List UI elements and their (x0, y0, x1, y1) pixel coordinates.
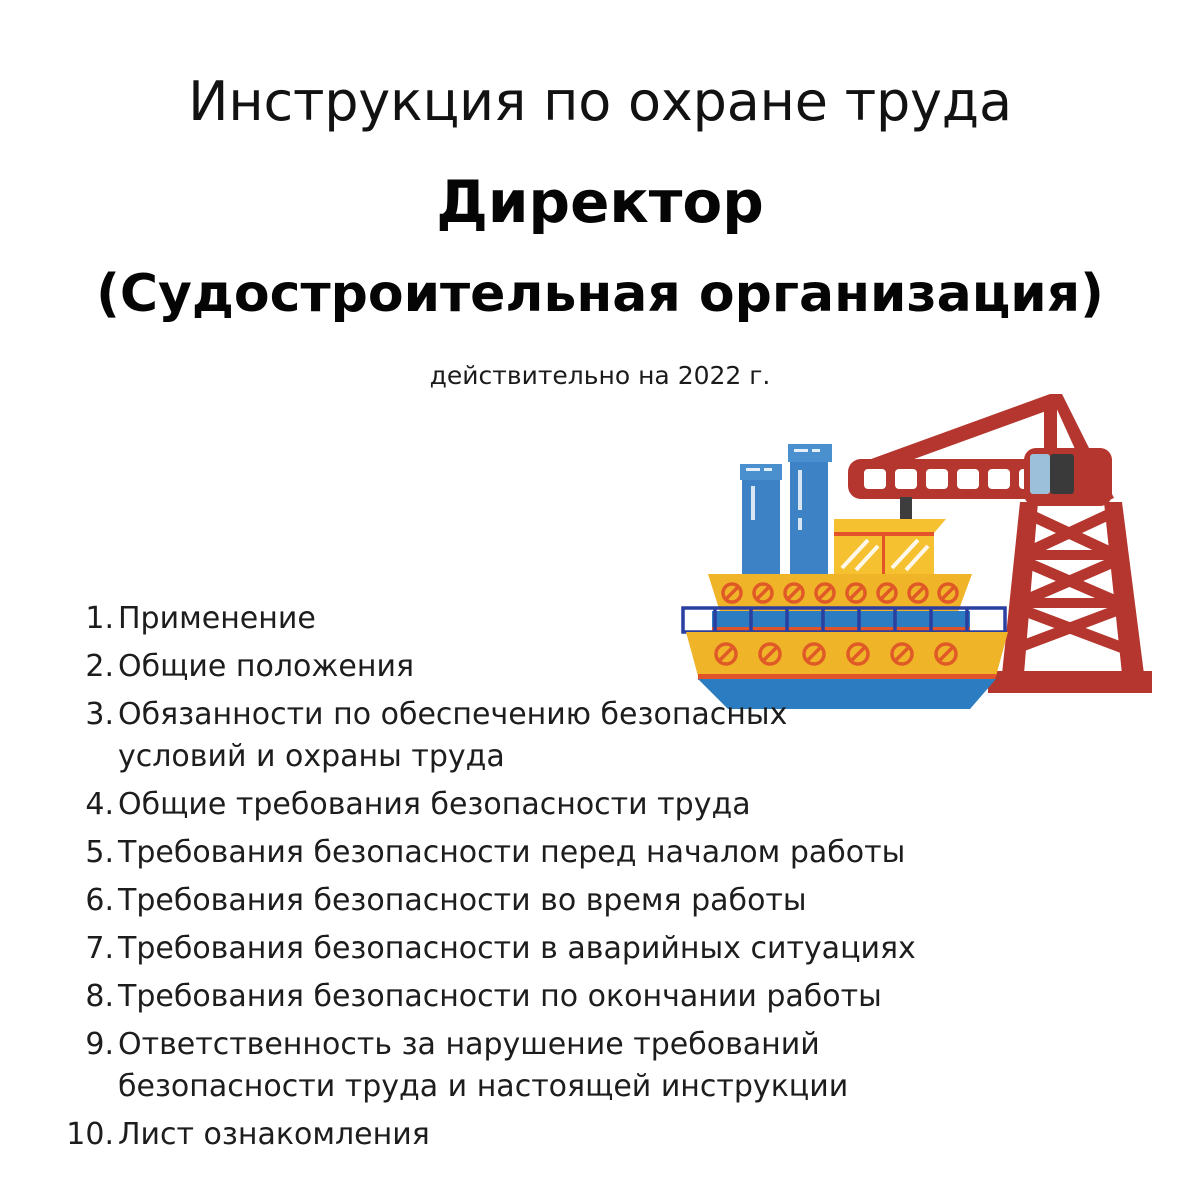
poster-page: Инструкция по охране труда Директор (Суд… (0, 0, 1200, 1200)
list-item-label: Общие положения (118, 646, 918, 688)
list-item[interactable]: 8. Требования безопасности по окончании … (62, 976, 962, 1018)
list-item[interactable]: 3. Обязанности по обеспечению безопасных… (62, 694, 962, 778)
list-item-number: 4. (62, 784, 118, 826)
list-item-label: Требования безопасности в аварийных ситу… (118, 928, 918, 970)
list-item[interactable]: 9. Ответственность за нарушение требован… (62, 1024, 962, 1108)
list-item[interactable]: 7. Требования безопасности в аварийных с… (62, 928, 962, 970)
list-item[interactable]: 4. Общие требования безопасности труда (62, 784, 962, 826)
list-item-label: Лист ознакомления (118, 1114, 918, 1156)
list-item-label: Обязанности по обеспечению безопасных ус… (118, 694, 918, 778)
page-title: Директор (0, 171, 1200, 234)
list-item[interactable]: 1. Применение (62, 598, 962, 640)
list-item[interactable]: 6. Требования безопасности во время рабо… (62, 880, 962, 922)
list-item[interactable]: 2. Общие положения (62, 646, 962, 688)
list-item-number: 7. (62, 928, 118, 970)
list-item-number: 6. (62, 880, 118, 922)
poster-header: Инструкция по охране труда Директор (Суд… (0, 0, 1200, 390)
list-item[interactable]: 10. Лист ознакомления (62, 1114, 962, 1156)
list-item-label: Требования безопасности по окончании раб… (118, 976, 918, 1018)
document-kicker: Инструкция по охране труда (0, 73, 1200, 130)
list-item-number: 1. (62, 598, 118, 640)
list-item-label: Ответственность за нарушение требований … (118, 1024, 918, 1108)
document-subtitle: (Судостроительная организация) (0, 266, 1200, 322)
list-item-number: 3. (62, 694, 118, 736)
list-item[interactable]: 5. Требования безопасности перед началом… (62, 832, 962, 874)
list-item-label: Требования безопасности во время работы (118, 880, 918, 922)
list-item-label: Требования безопасности перед началом ра… (118, 832, 918, 874)
list-item-number: 8. (62, 976, 118, 1018)
list-item-label: Применение (118, 598, 918, 640)
list-item-number: 9. (62, 1024, 118, 1066)
list-item-number: 10. (62, 1114, 118, 1156)
table-of-contents: 1. Применение 2. Общие положения 3. Обяз… (62, 598, 962, 1162)
list-item-number: 5. (62, 832, 118, 874)
list-item-number: 2. (62, 646, 118, 688)
list-item-label: Общие требования безопасности труда (118, 784, 918, 826)
